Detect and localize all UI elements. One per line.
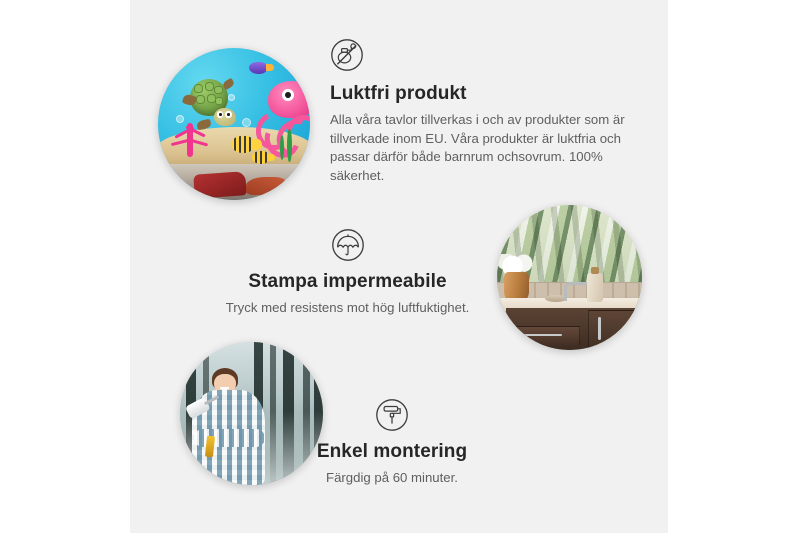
yellow-fish-small	[252, 151, 269, 163]
promo-graphic: Luktfri produkt Alla våra tavlor tillver…	[0, 0, 800, 533]
bathroom-illustration	[497, 205, 642, 350]
woman-figure	[189, 368, 278, 485]
feature-body: Färgdig på 60 minuter.	[272, 469, 512, 488]
feature-easy-mounting: Enkel montering Färgdig på 60 minuter.	[272, 398, 512, 488]
feature-title: Luktfri produkt	[330, 83, 630, 106]
no-fragrance-icon	[330, 38, 364, 72]
umbrella-icon	[331, 228, 365, 262]
underwater-illustration	[158, 48, 310, 200]
room-foreground	[158, 164, 310, 200]
feature-odorless: Luktfri produkt Alla våra tavlor tillver…	[330, 38, 630, 186]
pink-coral	[167, 121, 213, 157]
faucet	[564, 282, 590, 301]
feature-title: Stampa impermeabile	[205, 271, 490, 294]
feature-waterproof: Stampa impermeabile Tryck med resistens …	[205, 228, 490, 318]
underwater-cartoon-mural-circle	[158, 48, 310, 200]
purple-fish	[249, 62, 267, 74]
yellow-fish-large	[231, 136, 254, 153]
feature-body: Tryck med resistens mot hög luftfuktighe…	[205, 299, 490, 318]
paint-roller-icon	[375, 398, 409, 432]
vanity-cabinet	[506, 308, 642, 350]
feature-body: Alla våra tavlor tillverkas i och av pro…	[330, 111, 630, 186]
turtle-figure	[182, 77, 237, 127]
soap-dispenser	[587, 273, 603, 302]
feature-title: Enkel montering	[272, 441, 512, 464]
bathroom-vanity-botanical-wallpaper-circle	[497, 205, 642, 350]
